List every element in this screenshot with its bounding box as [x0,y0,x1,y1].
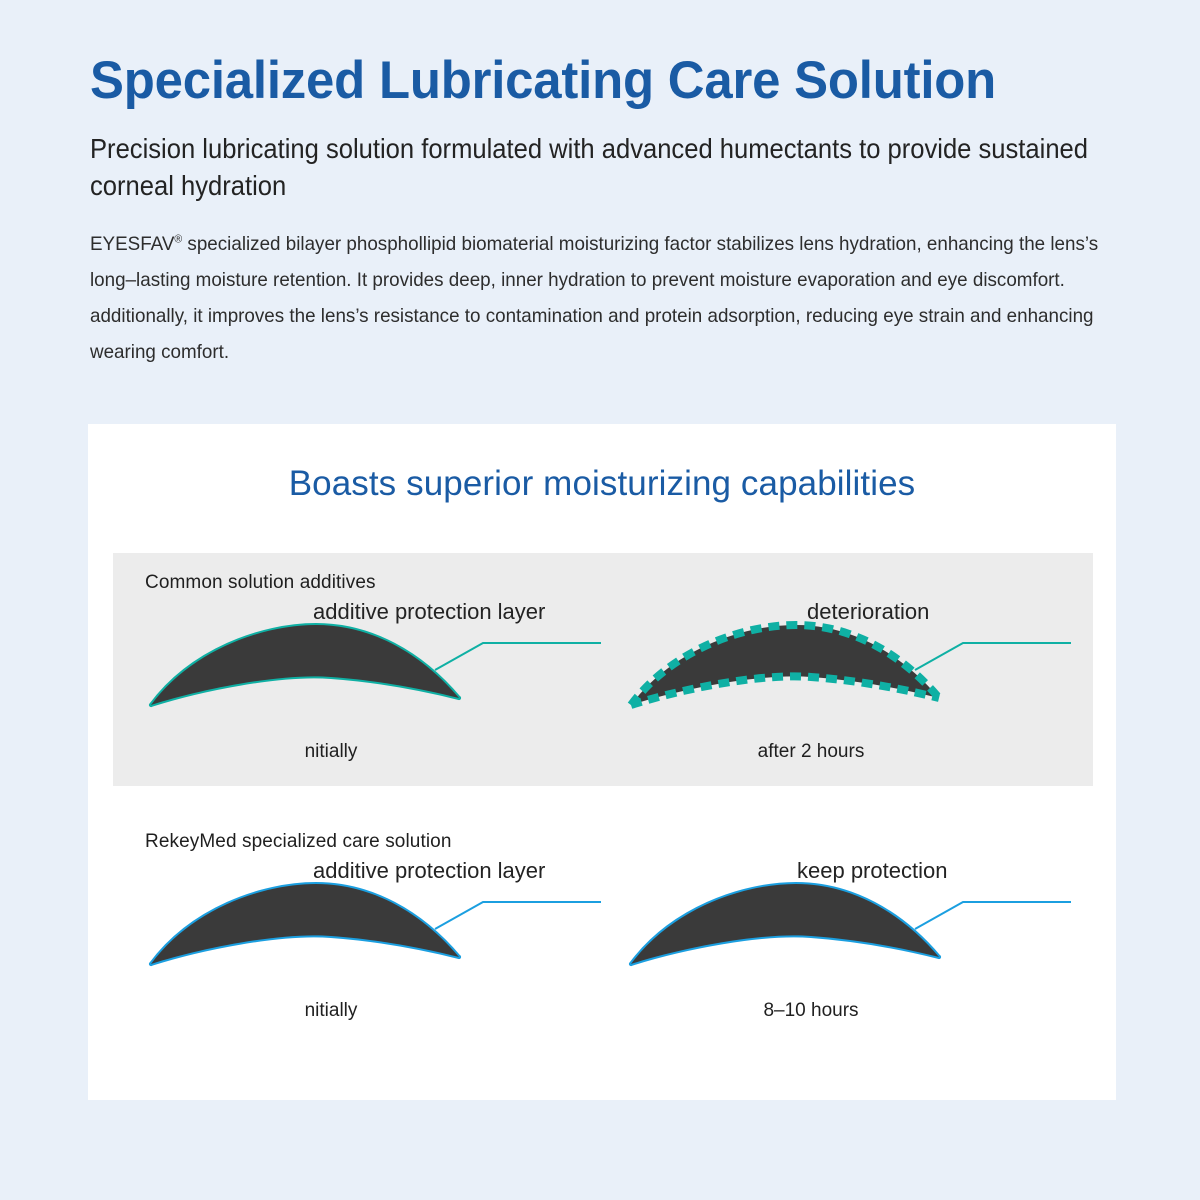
header-block: Specialized Lubricating Care Solution Pr… [90,52,1150,370]
lens-caption: 8–10 hours [611,1000,1011,1022]
body-paragraph: EYESFAV® specialized bilayer phosphollip… [90,226,1142,370]
card-heading: Boasts superior moisturizing capabilitie… [88,464,1116,504]
callout-label: deterioration [807,599,929,625]
body-paragraph-text: specialized bilayer phosphollipid biomat… [90,233,1098,363]
lens-caption: after 2 hours [611,741,1011,763]
lens-caption: nitially [131,1000,531,1022]
panel-label: Common solution additives [145,572,376,594]
page-root: Specialized Lubricating Care Solution Pr… [0,0,1200,1200]
panel-rekeymed-solution: RekeyMed specialized care solution addit… [113,812,1093,1045]
brand-name: EYESFAV [90,233,174,255]
lens-caption: nitially [131,741,531,763]
page-subtitle: Precision lubricating solution formulate… [90,131,1141,204]
panel-label: RekeyMed specialized care solution [145,831,452,853]
callout-label: additive protection layer [313,858,545,884]
callout-label: additive protection layer [313,599,545,625]
lens-cell-rekeymed-8-10-hours: keep protection 8–10 hours [611,852,1081,1037]
lens-cell-rekeymed-initially: additive protection layer nitially [131,852,601,1037]
page-title: Specialized Lubricating Care Solution [90,52,1108,109]
panel-common-additives: Common solution additives additive prote… [113,553,1093,786]
feature-card: Boasts superior moisturizing capabilitie… [88,424,1116,1100]
lens-cell-common-after-2-hours: deterioration after 2 hours [611,593,1081,778]
lens-cell-common-initially: additive protection layer nitially [131,593,601,778]
registered-mark-icon: ® [174,233,182,245]
callout-label: keep protection [797,858,947,884]
